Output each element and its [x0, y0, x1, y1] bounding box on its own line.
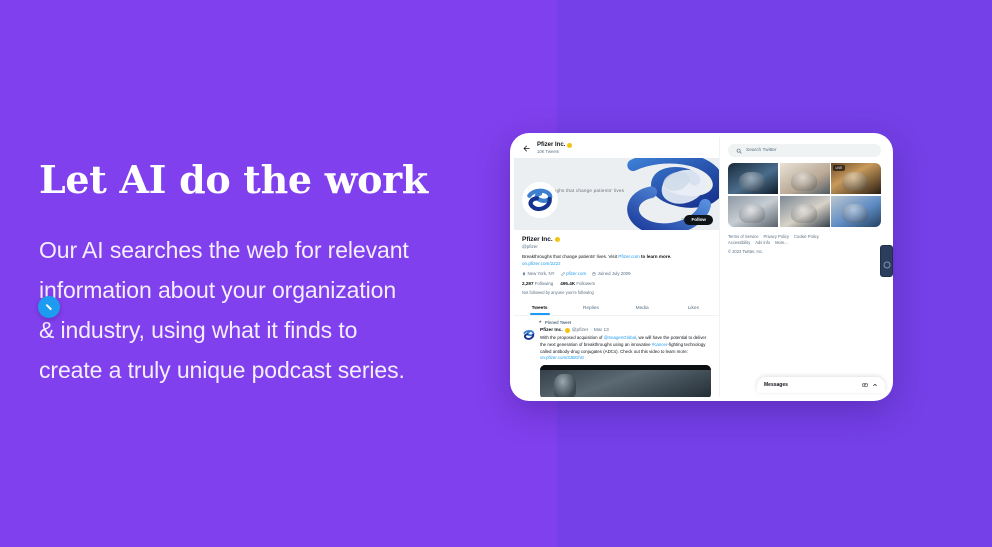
profile-bio: Breakthroughs that change patients' live…: [522, 253, 711, 267]
tab-likes[interactable]: Likes: [668, 302, 719, 315]
pfizer-logo-icon: [522, 328, 536, 342]
profile-stats: 2,297 Following 495.4K Followers: [522, 281, 711, 286]
thumb-video-interview[interactable]: LIVE: [831, 163, 881, 194]
followed-by-text: Not followed by anyone you're following: [522, 290, 711, 295]
avatar[interactable]: [522, 182, 558, 218]
search-icon: [736, 148, 742, 154]
footer-link-more[interactable]: More...: [775, 240, 788, 247]
footer-link-ads-info[interactable]: Ads info: [755, 240, 770, 247]
follow-button[interactable]: Follow: [684, 215, 713, 225]
tweet-separator: ·: [590, 328, 592, 333]
messages-label: Messages: [764, 382, 858, 388]
sidebar-column: Search Twitter LIVE Terms of Service P: [719, 137, 889, 397]
live-badge: LIVE: [833, 165, 845, 171]
tab-replies[interactable]: Replies: [565, 302, 616, 315]
profile-location-text: New York, NY: [528, 271, 555, 276]
link-icon: [561, 272, 565, 276]
profile-location: New York, NY: [522, 271, 555, 276]
tweet-text-1: With the proposed acquisition of: [540, 335, 604, 340]
sidebar-footer: Terms of Service Privacy Policy Cookie P…: [728, 234, 881, 256]
verified-badge-icon: [565, 328, 570, 333]
tab-tweets[interactable]: Tweets: [514, 302, 565, 315]
pfizer-logo-icon: [524, 184, 556, 216]
hero-description: Our AI searches the web for relevant inf…: [39, 230, 509, 390]
following-label: Following: [535, 281, 554, 286]
followers-label: Followers: [576, 281, 595, 286]
topbar-title: Pfizer Inc.: [537, 142, 572, 149]
profile-website-text[interactable]: pfizer.com: [566, 271, 586, 276]
tweet-author-handle: @pfizer: [572, 328, 589, 333]
bio-link-pfizer[interactable]: Pfizer.com: [618, 254, 639, 259]
followers-count: 495.4K: [560, 281, 575, 286]
tweet-date: Mar 13: [594, 328, 609, 333]
hero-description-line: information about your organization: [39, 270, 509, 310]
thumb-microscope[interactable]: [728, 196, 778, 227]
bio-text-2: to learn more.: [640, 254, 672, 259]
profile-joined: Joined July 2009: [592, 271, 630, 276]
profile-display-name-row: Pfizer Inc.: [522, 236, 711, 243]
tweet-text: With the proposed acquisition of @Seagen…: [540, 335, 711, 362]
page-title: Let AI do the work: [39, 160, 509, 200]
thumb-lab-vials[interactable]: [728, 163, 778, 194]
back-arrow-icon[interactable]: [522, 144, 531, 153]
expand-icon[interactable]: [872, 382, 878, 388]
search-input[interactable]: Search Twitter: [728, 144, 881, 157]
pinned-tweet-label-row: Pinned Tweet: [514, 316, 719, 326]
footer-copyright: © 2023 Twitter, Inc.: [728, 249, 881, 256]
profile-meta: New York, NY pfizer.com Jo: [522, 271, 711, 276]
tweet-video-thumbnail[interactable]: [540, 365, 711, 397]
tweet-hashtag-cancer[interactable]: #cancer: [652, 342, 668, 347]
footer-link-cookie[interactable]: Cookie Policy: [794, 234, 819, 241]
search-placeholder: Search Twitter: [746, 148, 777, 153]
bio-link-short[interactable]: on.pfizer.com/222z: [522, 261, 561, 266]
footer-links-row-2: Accessibility Ads info More...: [728, 240, 881, 247]
tweet-author-name: Pfizer Inc.: [540, 328, 563, 333]
profile-display-name: Pfizer Inc.: [522, 236, 553, 243]
tweet-mention-seagen[interactable]: @SeagenGlobal: [604, 335, 636, 340]
followers-stat[interactable]: 495.4K Followers: [560, 281, 595, 286]
profile-handle: @pfizer: [522, 244, 711, 249]
footer-link-accessibility[interactable]: Accessibility: [728, 240, 750, 247]
verified-badge-icon: [567, 143, 572, 148]
following-stat[interactable]: 2,297 Following: [522, 281, 553, 286]
pinned-tweet-label: Pinned Tweet: [545, 320, 571, 325]
media-grid: LIVE: [728, 163, 881, 227]
twitter-app-screen: Pfizer Inc. 10K Tweets Breakthroughs tha…: [514, 137, 889, 397]
hero-description-line: create a truly unique podcast series.: [39, 350, 509, 390]
tab-media[interactable]: Media: [617, 302, 668, 315]
profile-info: Pfizer Inc. @pfizer Breakthroughs that c…: [514, 230, 719, 295]
following-count: 2,297: [522, 281, 534, 286]
hero-description-line: Our AI searches the web for relevant: [39, 230, 509, 270]
thumb-researcher[interactable]: [780, 196, 830, 227]
profile-topbar: Pfizer Inc. 10K Tweets: [514, 137, 719, 158]
device-side-tab: [880, 245, 893, 277]
tweet-avatar[interactable]: [522, 328, 536, 342]
tweet-item[interactable]: Pfizer Inc. @pfizer · Mar 13 With the pr…: [514, 326, 719, 397]
location-pin-icon: [522, 272, 526, 276]
hero-description-line: & industry, using what it finds to: [39, 310, 509, 350]
messages-bar[interactable]: Messages: [757, 377, 885, 393]
profile-joined-text: Joined July 2009: [598, 271, 631, 276]
tweet-header: Pfizer Inc. @pfizer · Mar 13: [540, 328, 711, 333]
compose-tweet-button[interactable]: [38, 296, 60, 318]
calendar-icon: [592, 272, 596, 276]
verified-badge-icon: [555, 237, 560, 242]
thumb-presenter[interactable]: [831, 196, 881, 227]
profile-tabs: Tweets Replies Media Likes: [514, 302, 719, 316]
tweet-link[interactable]: on.pfizer.com/3JBGhG: [540, 355, 584, 360]
profile-column: Pfizer Inc. 10K Tweets Breakthroughs tha…: [514, 137, 719, 397]
hero-copy: Let AI do the work Our AI searches the w…: [39, 160, 509, 390]
pin-icon: [538, 320, 542, 324]
profile-website[interactable]: pfizer.com: [561, 271, 587, 276]
topbar-name: Pfizer Inc.: [537, 142, 565, 149]
thumb-scientist-tablet[interactable]: [780, 163, 830, 194]
topbar-tweet-count: 10K Tweets: [537, 150, 572, 155]
bio-text-1: Breakthroughs that change patients' live…: [522, 254, 618, 259]
new-message-icon[interactable]: [862, 382, 868, 388]
tablet-device-mockup: Pfizer Inc. 10K Tweets Breakthroughs tha…: [510, 133, 893, 401]
